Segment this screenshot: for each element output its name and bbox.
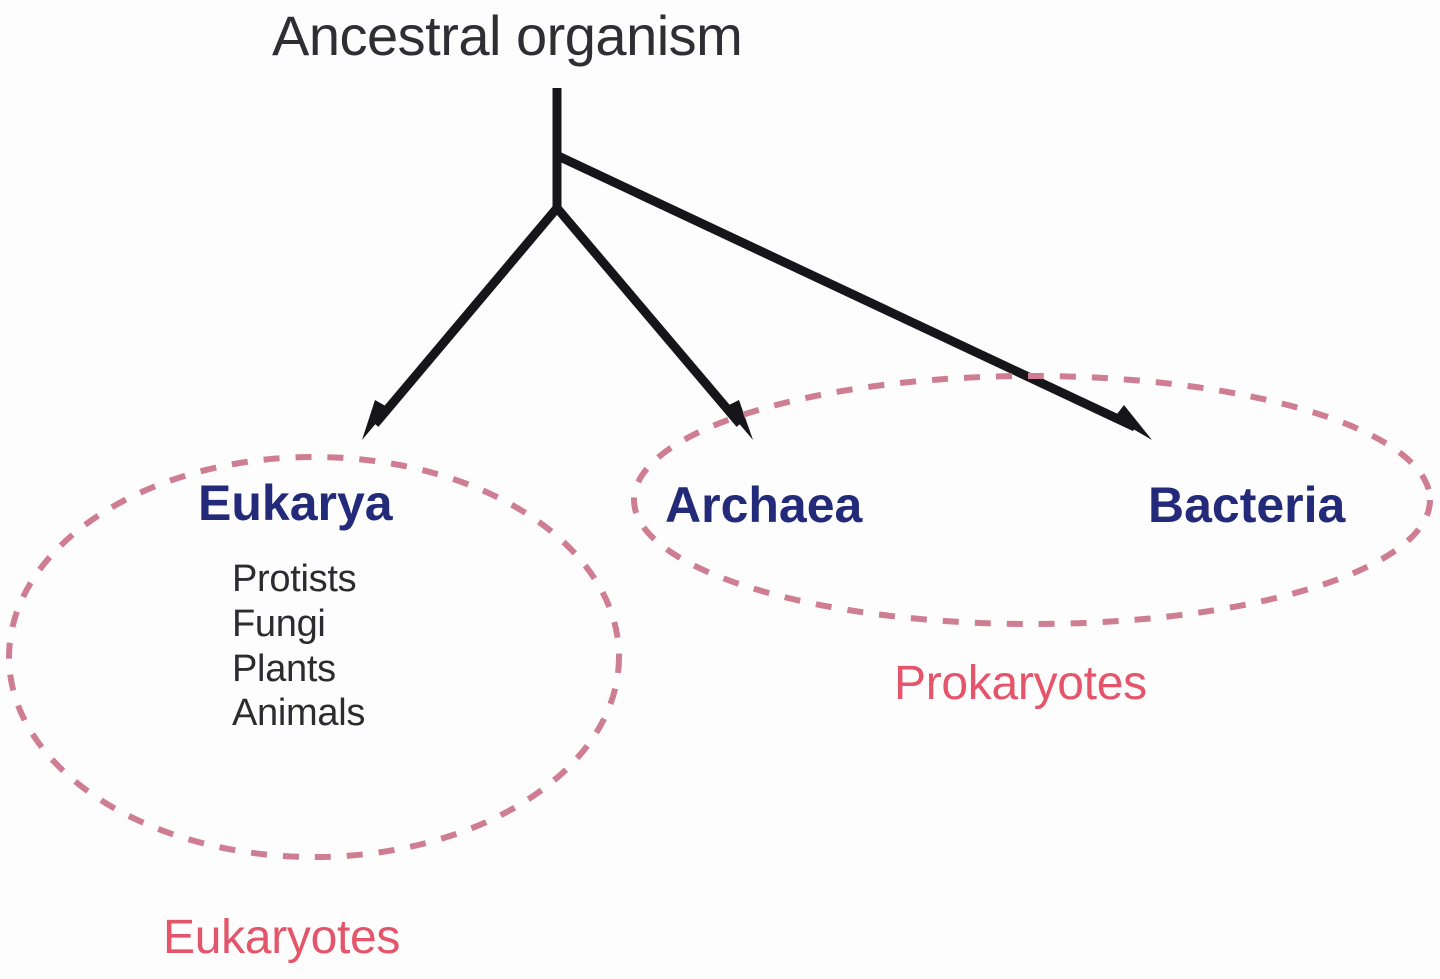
eukarya-child-animals: Animals: [232, 691, 365, 736]
eukarya-child-fungi: Fungi: [232, 602, 365, 647]
arrowhead-eukarya: [362, 400, 389, 440]
group-label-prokaryotes: Prokaryotes: [894, 660, 1147, 708]
domain-label-archaea: Archaea: [665, 480, 862, 530]
branch-line-archaea: [557, 208, 740, 424]
eukarya-child-plants: Plants: [232, 647, 365, 692]
arrowhead-archaea: [725, 400, 753, 440]
eukarya-child-protists: Protists: [232, 557, 365, 602]
branch-line-eukarya: [375, 208, 557, 424]
domain-label-eukarya: Eukarya: [198, 478, 393, 528]
domain-label-bacteria: Bacteria: [1148, 480, 1345, 530]
eukarya-child-list: Protists Fungi Plants Animals: [232, 557, 365, 736]
branch-line-bacteria: [556, 155, 1135, 427]
ancestral-organism-label: Ancestral organism: [272, 8, 742, 64]
phylogenetic-tree-diagram: Ancestral organism Eukarya Archaea Bacte…: [0, 0, 1440, 979]
group-label-eukaryotes: Eukaryotes: [163, 914, 400, 962]
